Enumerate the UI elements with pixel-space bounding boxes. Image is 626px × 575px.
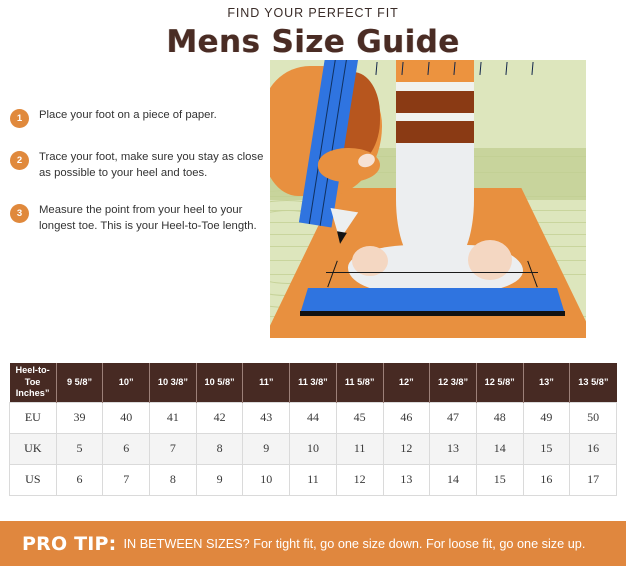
- table-cell: 7: [103, 464, 150, 495]
- page-title: Mens Size Guide: [0, 24, 626, 60]
- table-cell: 9: [196, 464, 243, 495]
- column-header: 11 3/8”: [290, 363, 337, 402]
- table-cell: 48: [476, 402, 523, 433]
- table-cell: 12: [383, 433, 430, 464]
- row-label-eu: EU: [10, 402, 57, 433]
- column-header: 13”: [523, 363, 570, 402]
- list-item: 3 Measure the point from your heel to yo…: [10, 203, 268, 234]
- toe-pad: [468, 240, 512, 280]
- table-cell: 11: [336, 433, 383, 464]
- table-cell: 15: [476, 464, 523, 495]
- instruction-steps: 1 Place your foot on a piece of paper. 2…: [10, 108, 268, 256]
- size-table: Heel-to-Toe Inches” 9 5/8” 10” 10 3/8” 1…: [9, 363, 617, 496]
- sock-stripe-dark: [396, 91, 474, 113]
- header-kicker: FIND YOUR PERFECT FIT: [0, 6, 626, 20]
- row-label-us: US: [10, 464, 57, 495]
- column-header: 12 5/8”: [476, 363, 523, 402]
- step-number-badge: 3: [10, 204, 29, 223]
- pro-tip-text: IN BETWEEN SIZES? For tight fit, go one …: [123, 537, 585, 551]
- table-cell: 11: [290, 464, 337, 495]
- table-cell: 50: [570, 402, 617, 433]
- table-cell: 5: [56, 433, 103, 464]
- ruler-tick: [479, 62, 481, 75]
- pro-tip-banner: PRO TIP: IN BETWEEN SIZES? For tight fit…: [0, 521, 626, 566]
- sock-stripe-orange: [396, 60, 474, 82]
- table-cell: 14: [430, 464, 477, 495]
- table-cell: 13: [430, 433, 477, 464]
- table-header: Heel-to-Toe Inches” 9 5/8” 10” 10 3/8” 1…: [10, 363, 617, 402]
- table-cell: 10: [243, 464, 290, 495]
- ruler-tick: [375, 62, 377, 75]
- trace-line: [326, 272, 538, 273]
- ruler-tick: [505, 62, 507, 75]
- table-cell: 10: [290, 433, 337, 464]
- table-body: EU 39 40 41 42 43 44 45 46 47 48 49 50 U…: [10, 402, 617, 495]
- column-header-heel-to-toe: Heel-to-Toe Inches”: [10, 363, 57, 402]
- step-text: Trace your foot, make sure you stay as c…: [39, 150, 268, 181]
- step-text: Place your foot on a piece of paper.: [39, 108, 217, 124]
- table-cell: 41: [150, 402, 197, 433]
- table-cell: 17: [570, 464, 617, 495]
- column-header: 11”: [243, 363, 290, 402]
- row-label-uk: UK: [10, 433, 57, 464]
- column-header: 12”: [383, 363, 430, 402]
- table-cell: 42: [196, 402, 243, 433]
- column-header: 9 5/8”: [56, 363, 103, 402]
- pencil-lead: [335, 231, 347, 244]
- table-row: UK 5 6 7 8 9 10 11 12 13 14 15 16: [10, 433, 617, 464]
- table-cell: 8: [196, 433, 243, 464]
- table-cell: 16: [523, 464, 570, 495]
- column-header: 12 3/8”: [430, 363, 477, 402]
- column-header: 10”: [103, 363, 150, 402]
- sock-stripe-dark: [396, 121, 474, 143]
- table-cell: 14: [476, 433, 523, 464]
- column-header: 10 3/8”: [150, 363, 197, 402]
- table-cell: 7: [150, 433, 197, 464]
- page-header: FIND YOUR PERFECT FIT Mens Size Guide: [0, 0, 626, 60]
- step-number-badge: 2: [10, 151, 29, 170]
- table-cell: 45: [336, 402, 383, 433]
- ruler-tick: [531, 62, 533, 75]
- table-cell: 47: [430, 402, 477, 433]
- table-cell: 46: [383, 402, 430, 433]
- sock-stripe-white: [396, 113, 474, 121]
- column-header: 13 5/8”: [570, 363, 617, 402]
- pro-tip-label: PRO TIP:: [22, 533, 116, 555]
- foot-tracing-illustration: [270, 60, 586, 338]
- table-cell: 15: [523, 433, 570, 464]
- table-cell: 16: [570, 433, 617, 464]
- table-header-row: Heel-to-Toe Inches” 9 5/8” 10” 10 3/8” 1…: [10, 363, 617, 402]
- column-header: 11 5/8”: [336, 363, 383, 402]
- table-cell: 6: [103, 433, 150, 464]
- table-cell: 13: [383, 464, 430, 495]
- table-row: EU 39 40 41 42 43 44 45 46 47 48 49 50: [10, 402, 617, 433]
- table-cell: 39: [56, 402, 103, 433]
- table-cell: 6: [56, 464, 103, 495]
- size-table-container: Heel-to-Toe Inches” 9 5/8” 10” 10 3/8” 1…: [9, 363, 617, 496]
- step-text: Measure the point from your heel to your…: [39, 203, 268, 234]
- sock-stripe-white: [396, 82, 474, 91]
- step-number-badge: 1: [10, 109, 29, 128]
- table-cell: 49: [523, 402, 570, 433]
- content-area: 1 Place your foot on a piece of paper. 2…: [0, 60, 626, 350]
- list-item: 1 Place your foot on a piece of paper.: [10, 108, 268, 128]
- table-cell: 9: [243, 433, 290, 464]
- table-cell: 44: [290, 402, 337, 433]
- column-header: 10 5/8”: [196, 363, 243, 402]
- ruler-base: [300, 311, 565, 316]
- table-cell: 40: [103, 402, 150, 433]
- table-cell: 43: [243, 402, 290, 433]
- list-item: 2 Trace your foot, make sure you stay as…: [10, 150, 268, 181]
- table-cell: 12: [336, 464, 383, 495]
- table-cell: 8: [150, 464, 197, 495]
- table-row: US 6 7 8 9 10 11 12 13 14 15 16 17: [10, 464, 617, 495]
